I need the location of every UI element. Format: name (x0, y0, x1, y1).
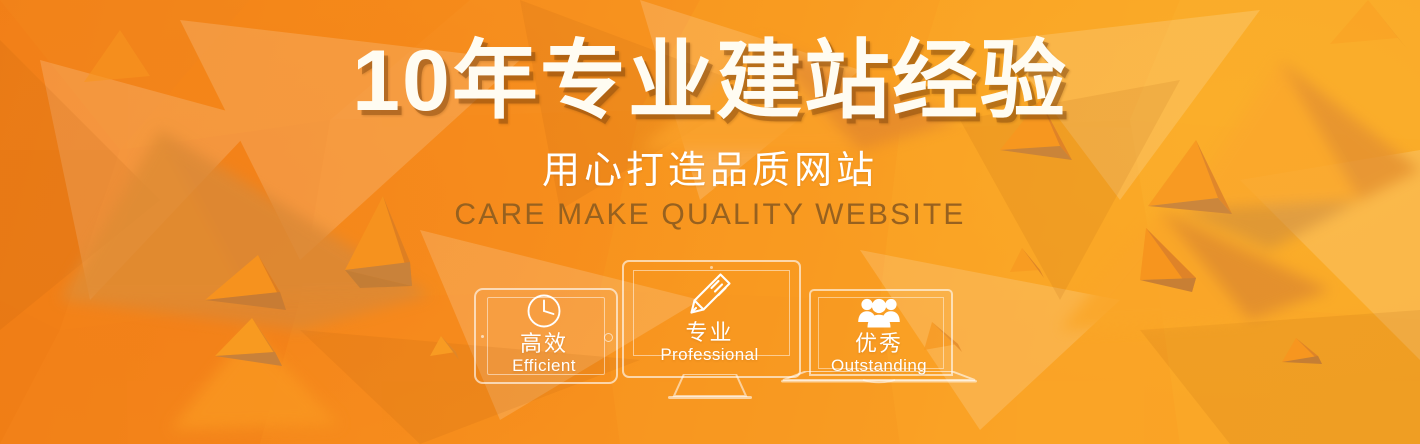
professional-label-cn: 专业 (622, 322, 797, 344)
clock-icon (525, 292, 563, 330)
subtitle-chinese: 用心打造品质网站 (0, 152, 1420, 190)
efficient-label-en: Efficient (474, 357, 614, 374)
professional-label-en: Professional (622, 346, 797, 363)
efficient-label-cn: 高效 (474, 333, 614, 355)
outstanding-label-cn: 优秀 (809, 333, 949, 355)
subtitle-english: CARE MAKE QUALITY WEBSITE (0, 200, 1420, 230)
outstanding-label-en: Outstanding (809, 357, 949, 374)
pencil-icon (684, 268, 736, 320)
page-title: 10年专业建站经验 (0, 38, 1420, 124)
people-group-icon (857, 296, 901, 330)
promo-banner: 10年专业建站经验 用心打造品质网站 CARE MAKE QUALITY WEB… (0, 0, 1420, 444)
efficient-icon-wrap (474, 292, 614, 335)
outstanding-icon-wrap (809, 296, 949, 335)
professional-icon-wrap (622, 268, 797, 325)
